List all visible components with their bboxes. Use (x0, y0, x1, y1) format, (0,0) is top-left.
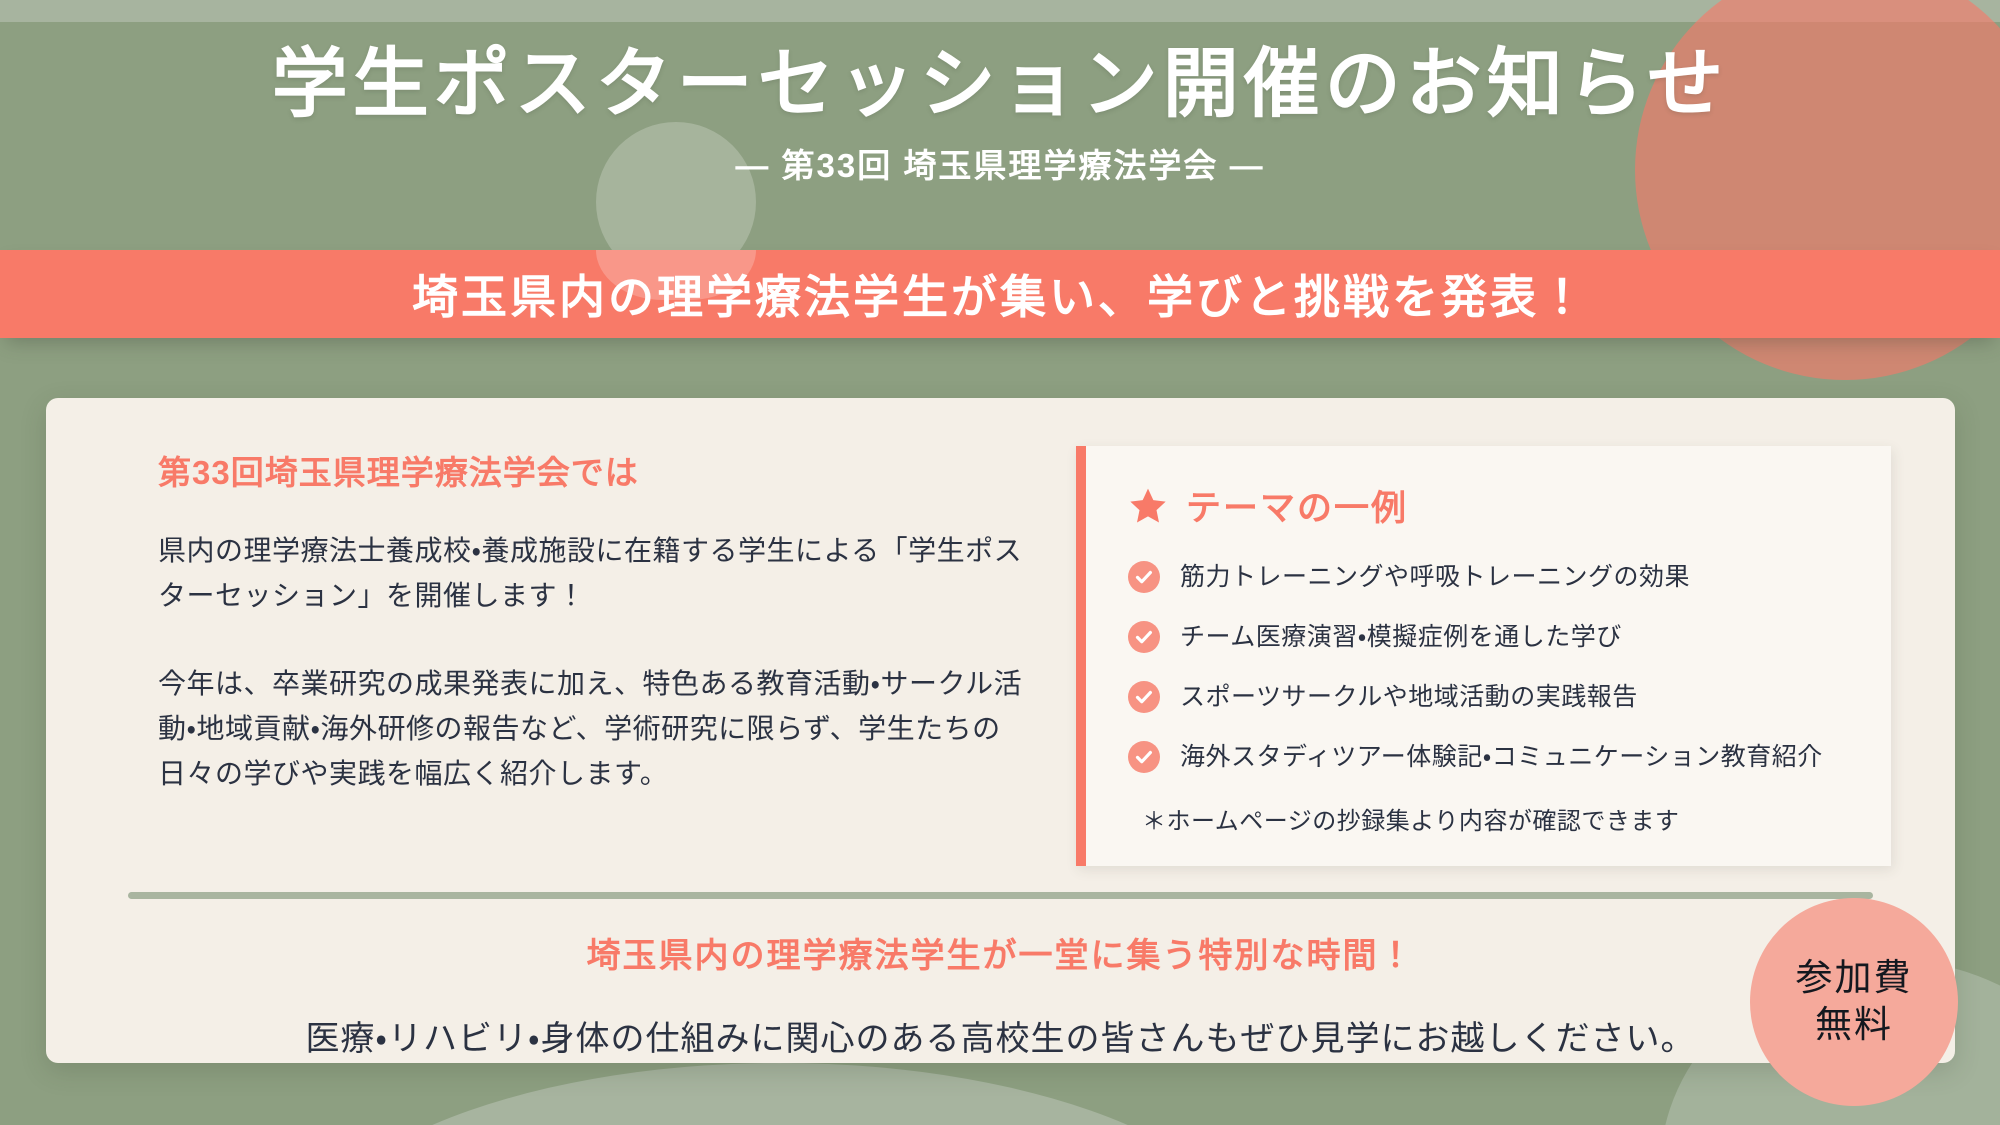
check-circle-icon (1128, 681, 1160, 713)
main-content-card: 第33回埼玉県理学療法学会では 県内の理学療法士養成校・養成施設に在籍する学生に… (46, 398, 1955, 1063)
theme-list-item: スポーツサークルや地域活動の実践報告 (1128, 681, 1861, 713)
poster-header: 学生ポスターセッション開催のお知らせ — 第33回 埼玉県理学療法学会 — (0, 0, 2000, 250)
theme-panel-header: テーマの一例 (1128, 480, 1861, 531)
check-circle-icon (1128, 621, 1160, 653)
intro-column: 第33回埼玉県理学療法学会では 県内の理学療法士養成校・養成施設に在籍する学生に… (102, 446, 1032, 866)
theme-list-item: 筋力トレーニングや呼吸トレーニングの効果 (1128, 561, 1861, 593)
theme-examples-panel: テーマの一例 筋力トレーニングや呼吸トレーニングの効果 (1076, 446, 1891, 866)
highlight-banner: 埼玉県内の理学療法学生が集い、学びと挑戦を発表！ (0, 250, 2000, 338)
theme-list-item: チーム医療演習・模擬症例を通した学び (1128, 621, 1861, 653)
theme-list-item-label: チーム医療演習・模擬症例を通した学び (1180, 622, 1622, 652)
highlight-banner-text: 埼玉県内の理学療法学生が集い、学びと挑戦を発表！ (412, 261, 1588, 327)
star-icon (1128, 486, 1168, 526)
theme-list-item: 海外スタディツアー体験記・コミュニケーション教育紹介 (1128, 741, 1861, 773)
page-subtitle: — 第33回 埼玉県理学療法学会 — (0, 127, 2000, 187)
fee-badge-line-1: 参加費 (1796, 958, 1913, 999)
card-top-row: 第33回埼玉県理学療法学会では 県内の理学療法士養成校・養成施設に在籍する学生に… (46, 398, 1955, 866)
theme-panel-note: ＊ホームページの抄録集より内容が確認できます (1128, 801, 1861, 836)
fee-badge-line-2: 無料 (1815, 1005, 1893, 1046)
theme-list-item-label: 海外スタディツアー体験記・コミュニケーション教育紹介 (1180, 742, 1823, 772)
intro-paragraph-1: 県内の理学療法士養成校・養成施設に在籍する学生による「学生ポスターセッション」を… (158, 528, 1032, 619)
section-divider (128, 892, 1873, 899)
theme-list-item-label: スポーツサークルや地域活動の実践報告 (1180, 682, 1638, 712)
footer-highlight-text: 埼玉県内の理学療法学生が一堂に集う特別な時間！ (46, 928, 1955, 977)
check-circle-icon (1128, 741, 1160, 773)
theme-panel-title: テーマの一例 (1186, 480, 1408, 531)
check-circle-icon (1128, 561, 1160, 593)
theme-list-item-label: 筋力トレーニングや呼吸トレーニングの効果 (1180, 562, 1690, 592)
intro-heading: 第33回埼玉県理学療法学会では (158, 446, 1032, 494)
poster-root: 学生ポスターセッション開催のお知らせ — 第33回 埼玉県理学療法学会 — 埼玉… (0, 0, 2000, 1125)
footer-closing-text: 医療・リハビリ・身体の仕組みに関心のある高校生の皆さんもぜひ見学にお越しください… (46, 1011, 1955, 1060)
intro-paragraph-2: 今年は、卒業研究の成果発表に加え、特色ある教育活動・サークル活動・地域貢献・海外… (158, 661, 1032, 797)
fee-badge: 参加費 無料 (1750, 898, 1958, 1106)
card-bottom-section: 埼玉県内の理学療法学生が一堂に集う特別な時間！ 医療・リハビリ・身体の仕組みに関… (46, 928, 1955, 1060)
page-title: 学生ポスターセッション開催のお知らせ (0, 0, 2000, 127)
